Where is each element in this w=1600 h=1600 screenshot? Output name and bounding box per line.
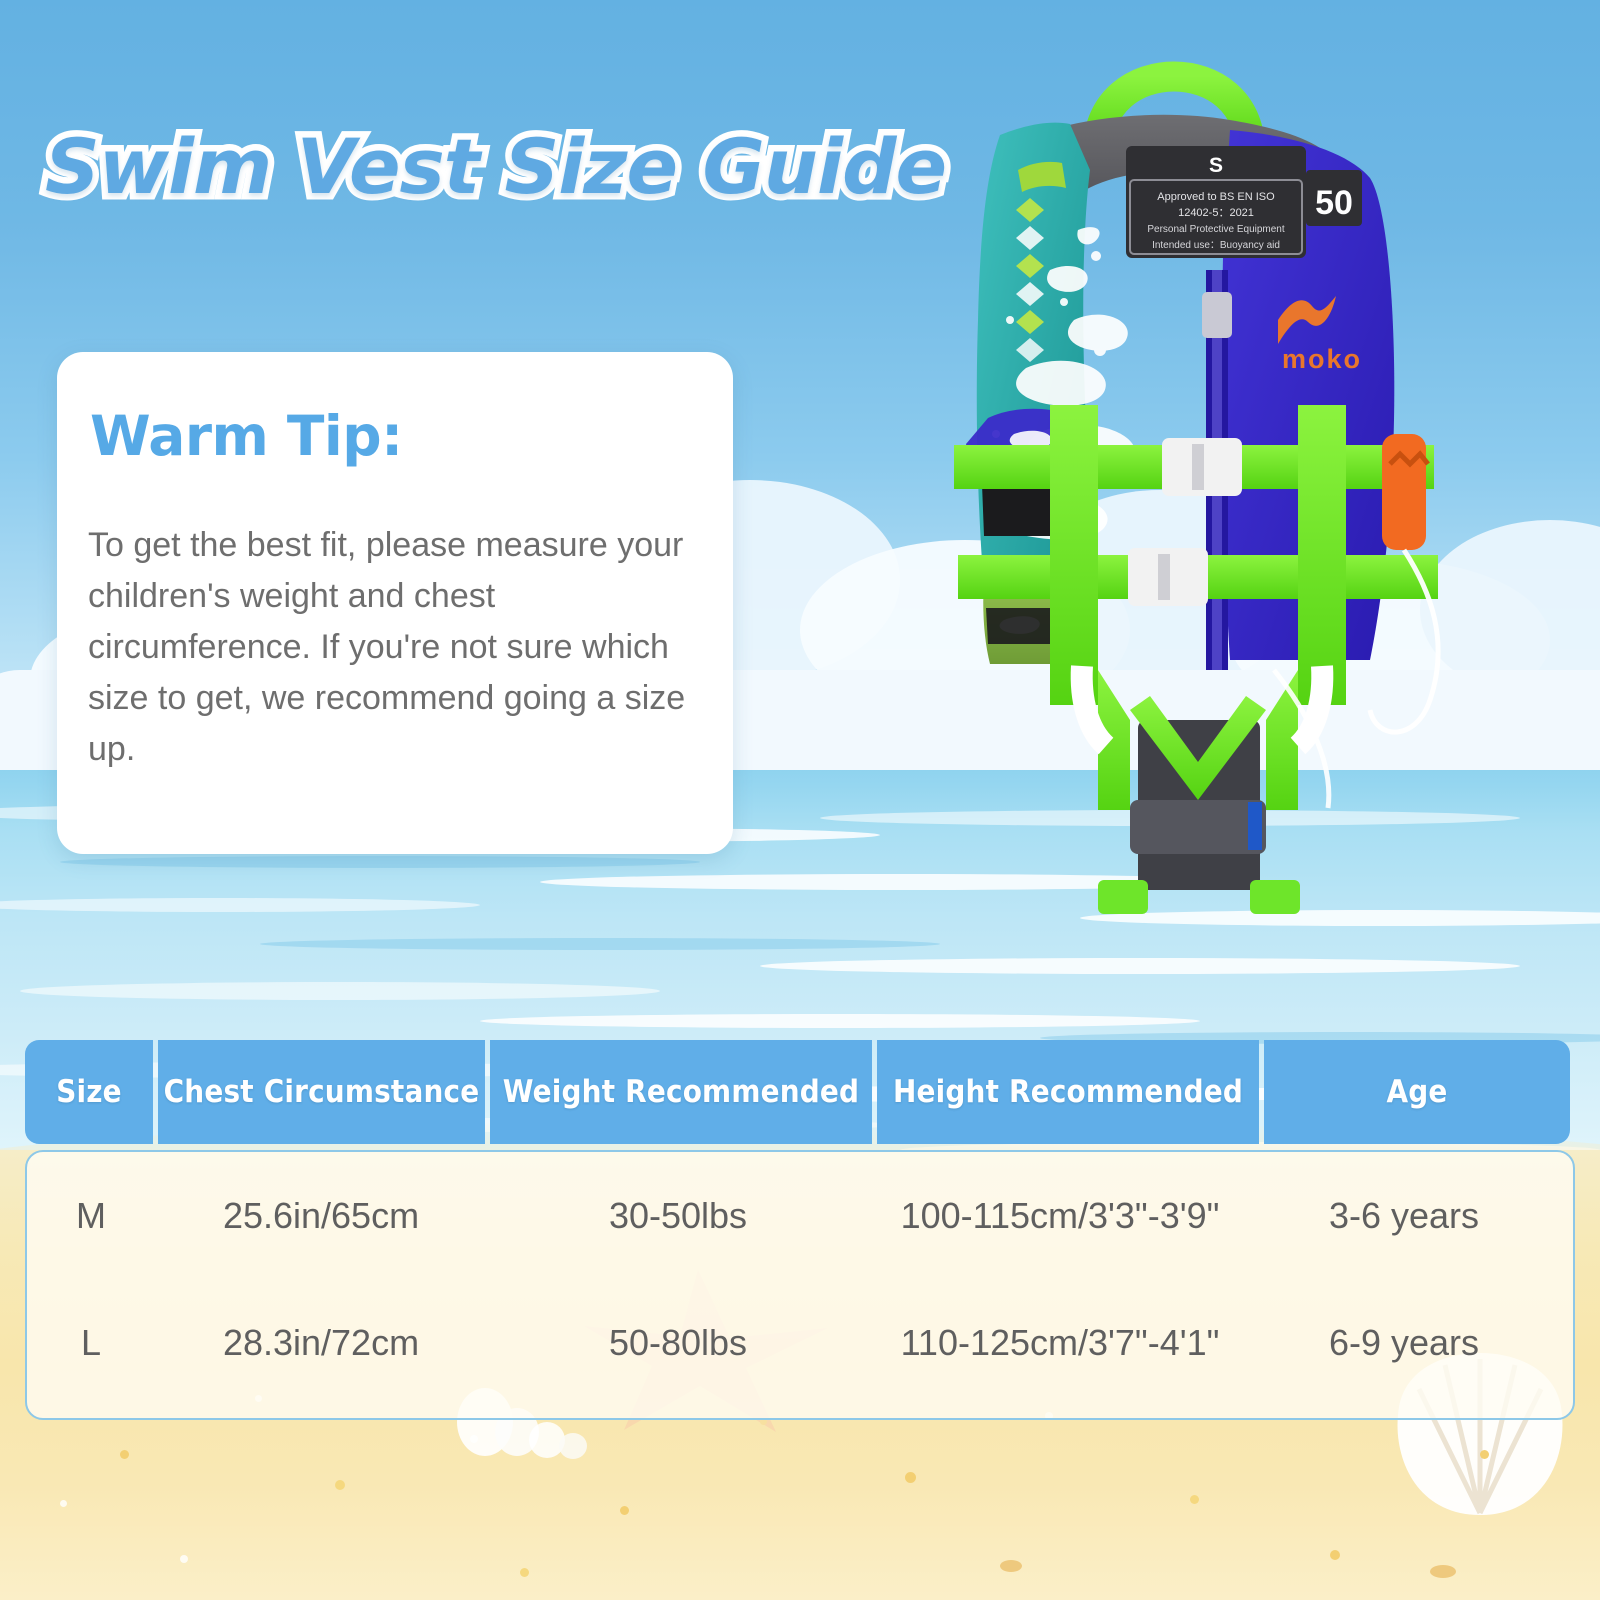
cell-chest: 28.3in/72cm	[155, 1322, 487, 1364]
column-header-size: Size	[25, 1040, 153, 1144]
crotch-zipper	[1248, 802, 1262, 850]
label-line-3: Personal Protective Equipment	[1147, 224, 1285, 235]
cell-age: 3-6 years	[1251, 1195, 1557, 1237]
column-header-height: Height Recommended	[877, 1040, 1259, 1144]
table-body: M 25.6in/65cm 30-50lbs 100-115cm/3'3"-3'…	[25, 1150, 1575, 1420]
shoulder-strap-right	[1298, 405, 1346, 705]
shoulder-strap-left	[1050, 405, 1098, 705]
cell-size: M	[27, 1195, 155, 1237]
label-line-2: 12402-5：2021	[1178, 207, 1254, 219]
moko-wordmark: moko	[1282, 344, 1362, 374]
label-line-1: Approved to BS EN ISO	[1157, 191, 1275, 203]
column-header-chest: Chest Circumstance	[158, 1040, 485, 1144]
column-header-weight: Weight Recommended	[490, 1040, 872, 1144]
table-row: L 28.3in/72cm 50-80lbs 110-125cm/3'7"-4'…	[27, 1279, 1573, 1406]
table-row: M 25.6in/65cm 30-50lbs 100-115cm/3'3"-3'…	[27, 1152, 1573, 1279]
swim-vest-product-image: S Approved to BS EN ISO 12402-5：2021 Per…	[930, 20, 1490, 970]
cell-size: L	[27, 1322, 155, 1364]
table-header-row: Size Chest Circumstance Weight Recommend…	[25, 1040, 1575, 1144]
infographic-canvas: Swim Vest Size Guide Warm Tip: To get th…	[0, 0, 1600, 1600]
column-header-age: Age	[1264, 1040, 1570, 1144]
cell-height: 100-115cm/3'3"-3'9"	[869, 1195, 1251, 1237]
cell-weight: 50-80lbs	[487, 1322, 869, 1364]
label-size-text: S	[1209, 154, 1223, 177]
warm-tip-heading: Warm Tip:	[90, 404, 403, 468]
cell-age: 6-9 years	[1251, 1322, 1557, 1364]
cell-weight: 30-50lbs	[487, 1195, 869, 1237]
warm-tip-body: To get the best fit, please measure your…	[88, 520, 713, 775]
crotch-tip-left	[1098, 880, 1148, 914]
cell-height: 110-125cm/3'7"-4'1"	[869, 1322, 1251, 1364]
page-title: Swim Vest Size Guide	[45, 122, 946, 211]
crotch-tip-right	[1250, 880, 1300, 914]
size-chart-table: Size Chest Circumstance Weight Recommend…	[25, 1040, 1575, 1420]
buoyancy-badge-text: 50	[1315, 184, 1353, 222]
zipper-pull	[1202, 292, 1232, 338]
cell-chest: 25.6in/65cm	[155, 1195, 487, 1237]
label-line-4: Intended use：Buoyancy aid	[1152, 240, 1280, 251]
warm-tip-card: Warm Tip: To get the best fit, please me…	[57, 352, 733, 854]
